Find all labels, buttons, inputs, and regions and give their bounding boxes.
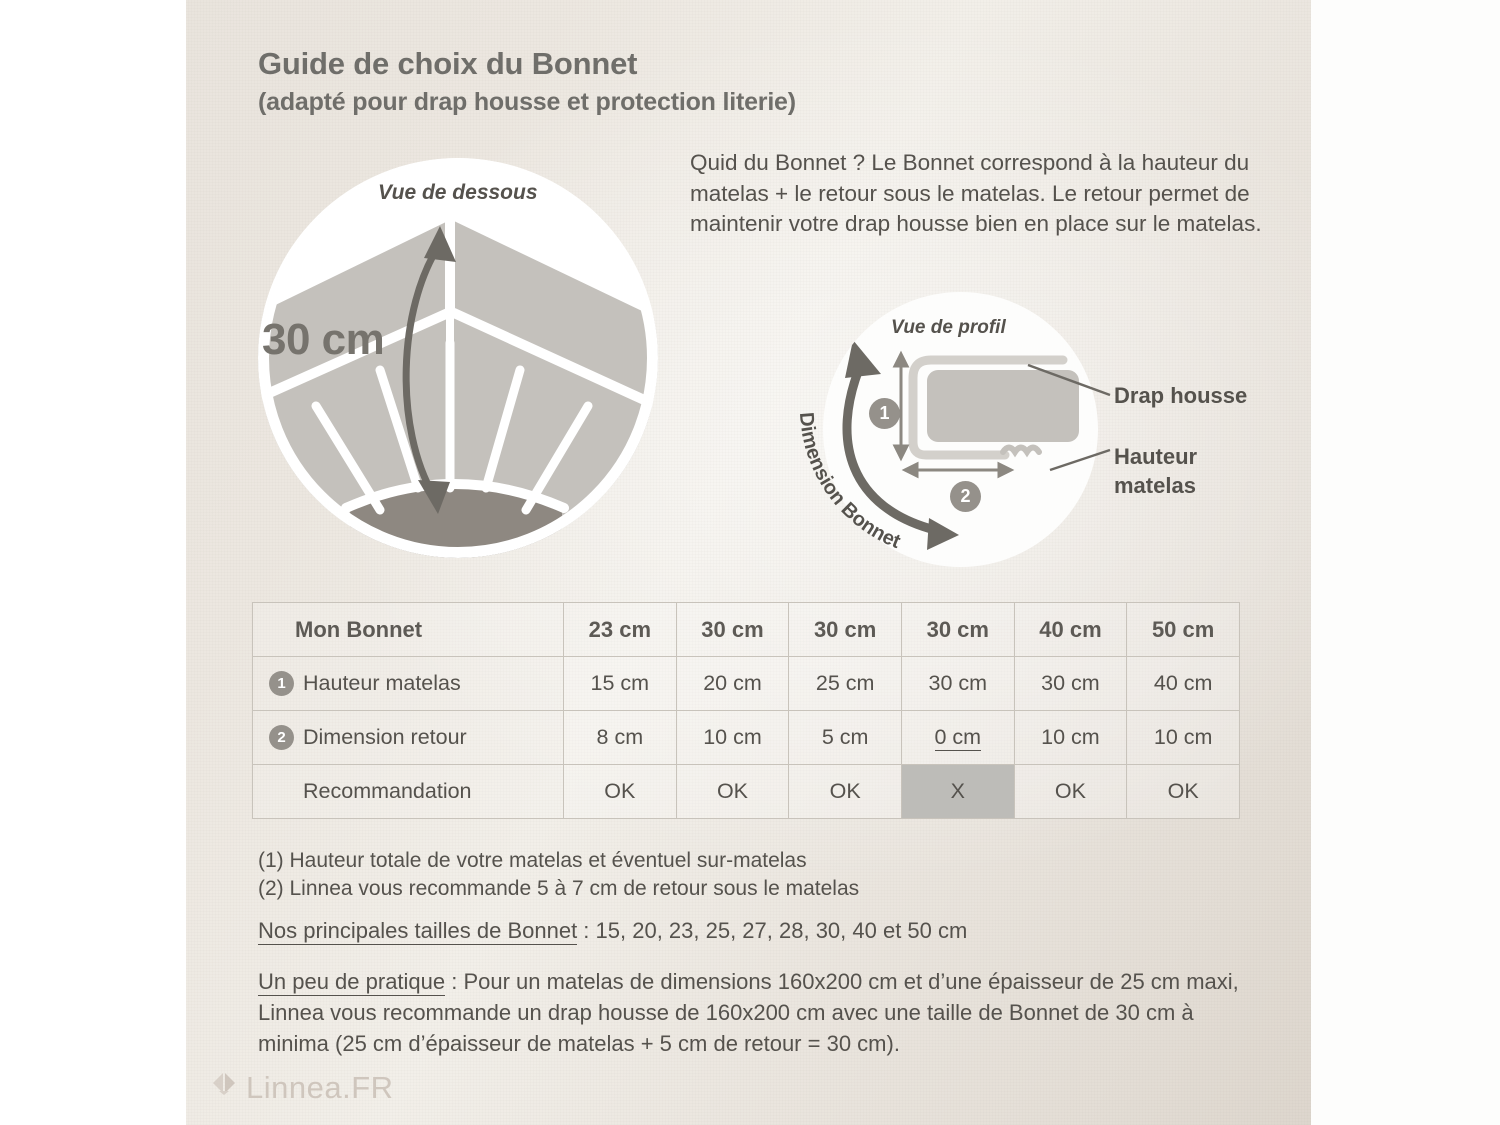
table-col-header: 23 cm [564,603,677,657]
left-margin [0,0,186,1125]
table-cell: OK [789,765,902,819]
dimension-bonnet-label: Dimension Bonnet [760,290,1040,580]
bottom-view-caption: Vue de dessous [378,181,538,205]
table-cell: 30 cm [901,657,1014,711]
table-cell: 15 cm [564,657,677,711]
row-label-text: Dimension retour [303,725,467,750]
table-cell: 25 cm [789,657,902,711]
sizes-value: : 15, 20, 23, 25, 27, 28, 30, 40 et 50 c… [577,918,967,943]
table-cell: OK [676,765,789,819]
table-row: 2 Dimension retour 8 cm 10 cm 5 cm 0 cm … [253,711,1240,765]
footnote-2: (2) Linnea vous recommande 5 à 7 cm de r… [258,874,1158,903]
table-cell: 20 cm [676,657,789,711]
label-hauteur-line1: Hauteur [1114,442,1197,471]
table-cell: OK [564,765,677,819]
row-label-text: Recommandation [303,779,472,804]
row-label-recommandation: Recommandation [253,765,564,819]
table-row: 1 Hauteur matelas 15 cm 20 cm 25 cm 30 c… [253,657,1240,711]
page-title: Guide de choix du Bonnet [258,48,1078,81]
row-label-hauteur-matelas: 1 Hauteur matelas [253,657,564,711]
table-col-header: 50 cm [1127,603,1240,657]
practice-label: Un peu de pratique [258,969,445,996]
table-cell: 10 cm [676,711,789,765]
table-cell: 30 cm [1014,657,1127,711]
linnea-diamond-icon [211,1071,237,1105]
bonnet-table: Mon Bonnet 23 cm 30 cm 30 cm 30 cm 40 cm… [252,602,1240,819]
bottom-view-measure-label: 30 cm [262,315,384,365]
table-cell: 8 cm [564,711,677,765]
table-cell: 40 cm [1127,657,1240,711]
practice-paragraph: Un peu de pratique : Pour un matelas de … [258,966,1268,1059]
marker-1-profile: 1 [869,398,900,429]
table-col-header: 30 cm [676,603,789,657]
row-label-dimension-retour: 2 Dimension retour [253,711,564,765]
row-badge-2: 2 [269,725,294,750]
bonnet-table-body: Mon Bonnet 23 cm 30 cm 30 cm 30 cm 40 cm… [253,603,1240,819]
table-col-header: 40 cm [1014,603,1127,657]
table-col-header: 30 cm [901,603,1014,657]
intro-paragraph: Quid du Bonnet ? Le Bonnet correspond à … [690,148,1290,240]
table-header-label: Mon Bonnet [253,603,564,657]
label-hauteur-line2: matelas [1114,471,1197,500]
table-cell: 5 cm [789,711,902,765]
label-drap-housse: Drap housse [1114,383,1247,409]
infographic-root: Guide de choix du Bonnet (adapté pour dr… [0,0,1500,1125]
page-subtitle: (adapté pour drap housse et protection l… [258,88,1158,117]
row-badge-1: 1 [269,671,294,696]
sizes-label: Nos principales tailles de Bonnet [258,918,577,945]
right-margin [1311,0,1500,1125]
logo-text: Linnea.FR [246,1070,394,1106]
table-cell: OK [1014,765,1127,819]
table-cell-text: 0 cm [935,725,982,751]
dimension-bonnet-arc-text: Dimension Bonnet [795,411,904,553]
profile-leader-lines [1010,355,1120,495]
table-row: Recommandation OK OK OK X OK OK [253,765,1240,819]
table-cell-not-recommended: X [901,765,1014,819]
table-cell-highlight: 0 cm [901,711,1014,765]
table-col-header: 30 cm [789,603,902,657]
table-cell: 10 cm [1127,711,1240,765]
table-cell: 10 cm [1014,711,1127,765]
sizes-line: Nos principales tailles de Bonnet : 15, … [258,918,1258,944]
marker-2-profile: 2 [950,481,981,512]
footnote-1: (1) Hauteur totale de votre matelas et é… [258,846,1158,875]
table-header-row: Mon Bonnet 23 cm 30 cm 30 cm 30 cm 40 cm… [253,603,1240,657]
label-hauteur-matelas: Hauteur matelas [1114,442,1197,500]
svg-text:Dimension Bonnet: Dimension Bonnet [795,411,904,553]
row-label-text: Hauteur matelas [303,671,461,696]
brand-logo[interactable]: Linnea.FR [211,1070,394,1106]
table-cell: OK [1127,765,1240,819]
